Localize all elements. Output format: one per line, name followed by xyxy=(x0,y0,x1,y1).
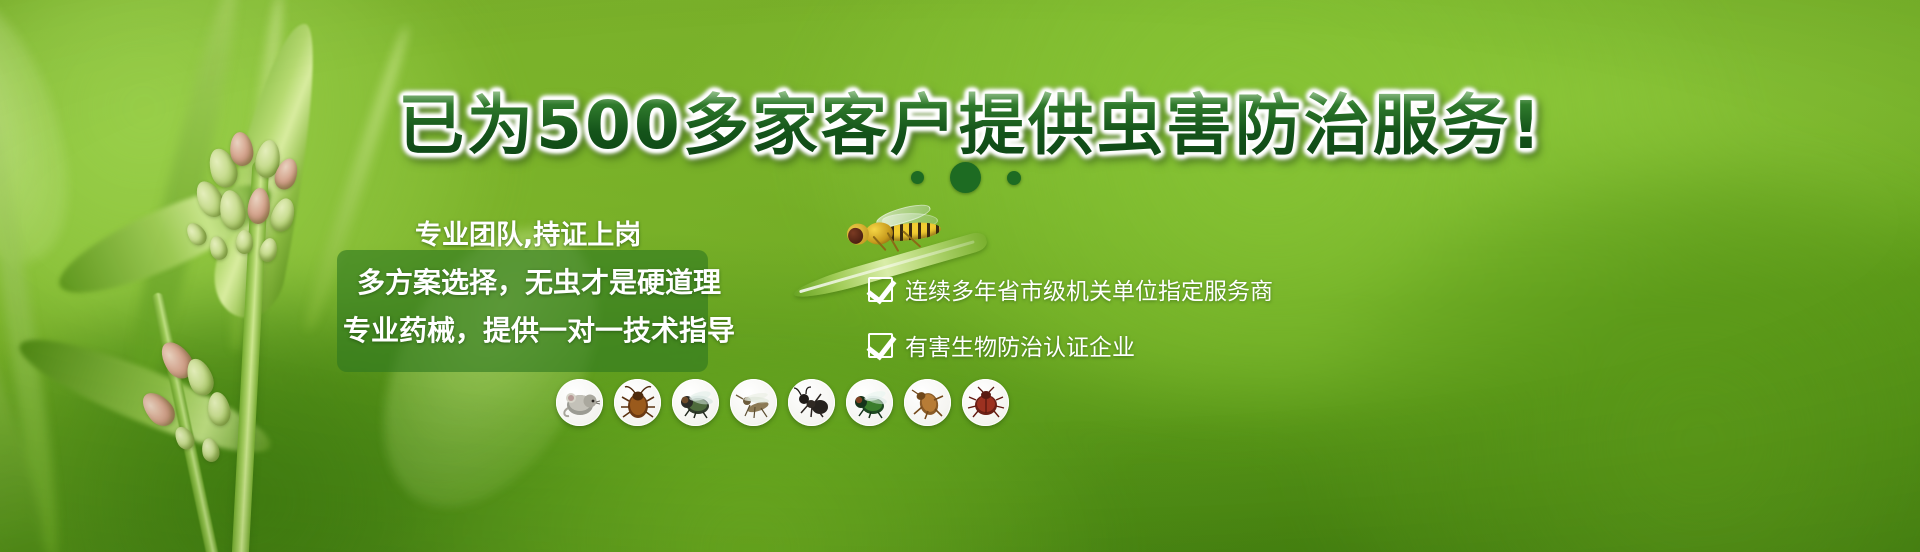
housefly-icon[interactable] xyxy=(672,379,719,426)
dot-small-right xyxy=(1007,171,1021,185)
feature-panel xyxy=(337,250,708,372)
greenfly-icon[interactable] xyxy=(846,379,893,426)
dot-small-left xyxy=(911,171,924,184)
mouse-icon[interactable] xyxy=(556,379,603,426)
checkbox-checked-icon xyxy=(868,333,893,358)
flea-icon[interactable] xyxy=(904,379,951,426)
headline-text: 已为500多家客户提供虫害防治服务! xyxy=(398,72,1544,168)
promotional-banner: 已为500多家客户提供虫害防治服务! 专业团队,持证上岗 多方案选择，无虫才是硬… xyxy=(0,0,1920,552)
pest-icon-row xyxy=(556,379,1009,426)
mosquito-icon[interactable] xyxy=(730,379,777,426)
ant-icon[interactable] xyxy=(788,379,835,426)
checkbox-checked-icon xyxy=(868,277,893,302)
dot-large-center xyxy=(950,162,981,193)
headline: 已为500多家客户提供虫害防治服务! xyxy=(0,72,1920,168)
checklist-item: 连续多年省市级机关单位指定服务商 xyxy=(868,272,1273,306)
cockroach-icon[interactable] xyxy=(614,379,661,426)
checklist-item: 有害生物防治认证企业 xyxy=(868,328,1273,362)
checklist-item-label: 连续多年省市级机关单位指定服务商 xyxy=(905,272,1273,306)
decorative-dots xyxy=(0,162,1920,193)
checklist-item-label: 有害生物防治认证企业 xyxy=(905,328,1135,362)
credentials-checklist: 连续多年省市级机关单位指定服务商 有害生物防治认证企业 xyxy=(868,272,1273,362)
bedbug-icon[interactable] xyxy=(962,379,1009,426)
